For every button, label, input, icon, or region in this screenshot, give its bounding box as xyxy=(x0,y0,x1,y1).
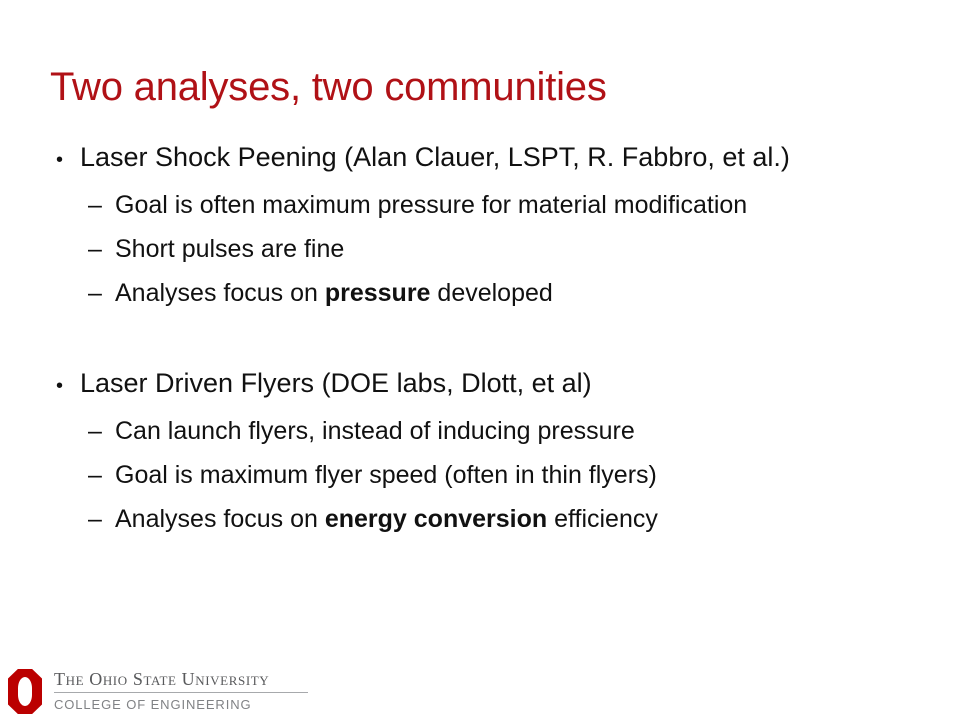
emphasis-text: pressure xyxy=(325,279,431,307)
list-item: – Short pulses are fine xyxy=(50,227,930,271)
osu-logo: The Ohio State University COLLEGE OF ENG… xyxy=(8,668,308,714)
list-item: – Goal is maximum flyer speed (often in … xyxy=(50,453,930,497)
list-item: – Analyses focus on energy conversion ef… xyxy=(50,497,930,541)
block-o-icon xyxy=(8,669,42,714)
list-item: – Can launch flyers, instead of inducing… xyxy=(50,409,930,453)
list-item-label: Laser Shock Peening (Alan Clauer, LSPT, … xyxy=(80,135,930,180)
list-item-label: Analyses focus on energy conversion effi… xyxy=(115,497,930,541)
list-item-label: Laser Driven Flyers (DOE labs, Dlott, et… xyxy=(80,361,930,406)
emphasis-text: energy conversion xyxy=(325,505,547,533)
list-item-label: Goal is maximum flyer speed (often in th… xyxy=(115,453,930,497)
text-suffix: efficiency xyxy=(547,505,658,533)
logo-divider xyxy=(54,692,308,693)
bullet-marker-icon: • xyxy=(56,364,80,409)
list-item-label: Can launch flyers, instead of inducing p… xyxy=(115,409,930,453)
list-item: • Laser Driven Flyers (DOE labs, Dlott, … xyxy=(50,361,930,409)
bullet-marker-icon: • xyxy=(56,138,80,183)
block-o-inner-shape xyxy=(18,677,32,707)
list-item: • Laser Shock Peening (Alan Clauer, LSPT… xyxy=(50,135,930,183)
list-item-label: Goal is often maximum pressure for mater… xyxy=(115,183,930,227)
dash-marker-icon: – xyxy=(88,497,115,541)
text-suffix: developed xyxy=(430,279,552,307)
bullet-list: • Laser Shock Peening (Alan Clauer, LSPT… xyxy=(50,135,930,541)
list-item-label: Analyses focus on pressure developed xyxy=(115,271,930,315)
text-prefix: Analyses focus on xyxy=(115,279,325,307)
text-prefix: Analyses focus on xyxy=(115,505,325,533)
university-name: The Ohio State University xyxy=(54,669,308,689)
dash-marker-icon: – xyxy=(88,183,115,227)
slide-canvas: Two analyses, two communities • Laser Sh… xyxy=(0,0,960,720)
dash-marker-icon: – xyxy=(88,409,115,453)
list-item: – Analyses focus on pressure developed xyxy=(50,271,930,315)
page-title: Two analyses, two communities xyxy=(50,63,910,111)
college-name: COLLEGE OF ENGINEERING xyxy=(54,697,308,712)
list-item: – Goal is often maximum pressure for mat… xyxy=(50,183,930,227)
list-item-label: Short pulses are fine xyxy=(115,227,930,271)
dash-marker-icon: – xyxy=(88,271,115,315)
group-spacer xyxy=(50,315,930,361)
dash-marker-icon: – xyxy=(88,453,115,497)
logo-wordmark: The Ohio State University COLLEGE OF ENG… xyxy=(54,668,308,712)
dash-marker-icon: – xyxy=(88,227,115,271)
